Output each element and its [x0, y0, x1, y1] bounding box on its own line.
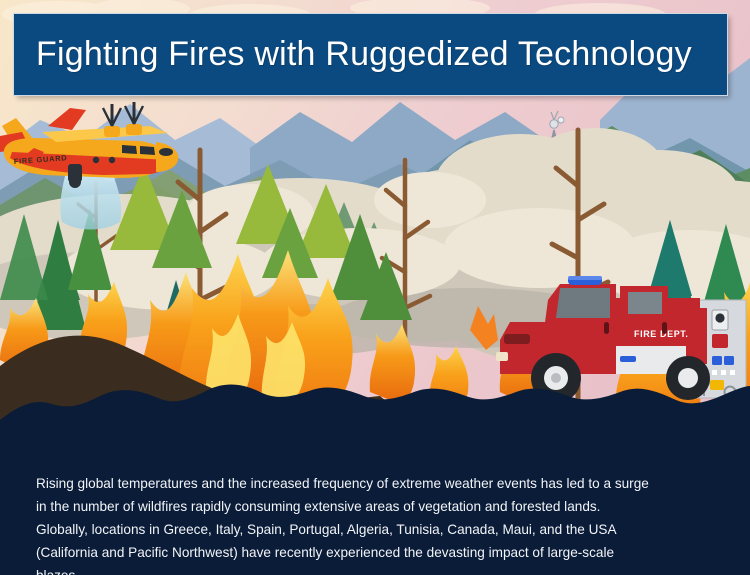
body-panel: Rising global temperatures and the incre… [0, 430, 750, 575]
intro-paragraph: Rising global temperatures and the incre… [36, 472, 656, 575]
page-title: Fighting Fires with Ruggedized Technolog… [14, 35, 692, 74]
title-banner: Fighting Fires with Ruggedized Technolog… [14, 14, 727, 95]
fire-truck-livery-text: FIRE DEPT. [634, 329, 689, 339]
wildfire-infographic-slide: Wildfire scene with firefighting water b… [0, 0, 750, 575]
